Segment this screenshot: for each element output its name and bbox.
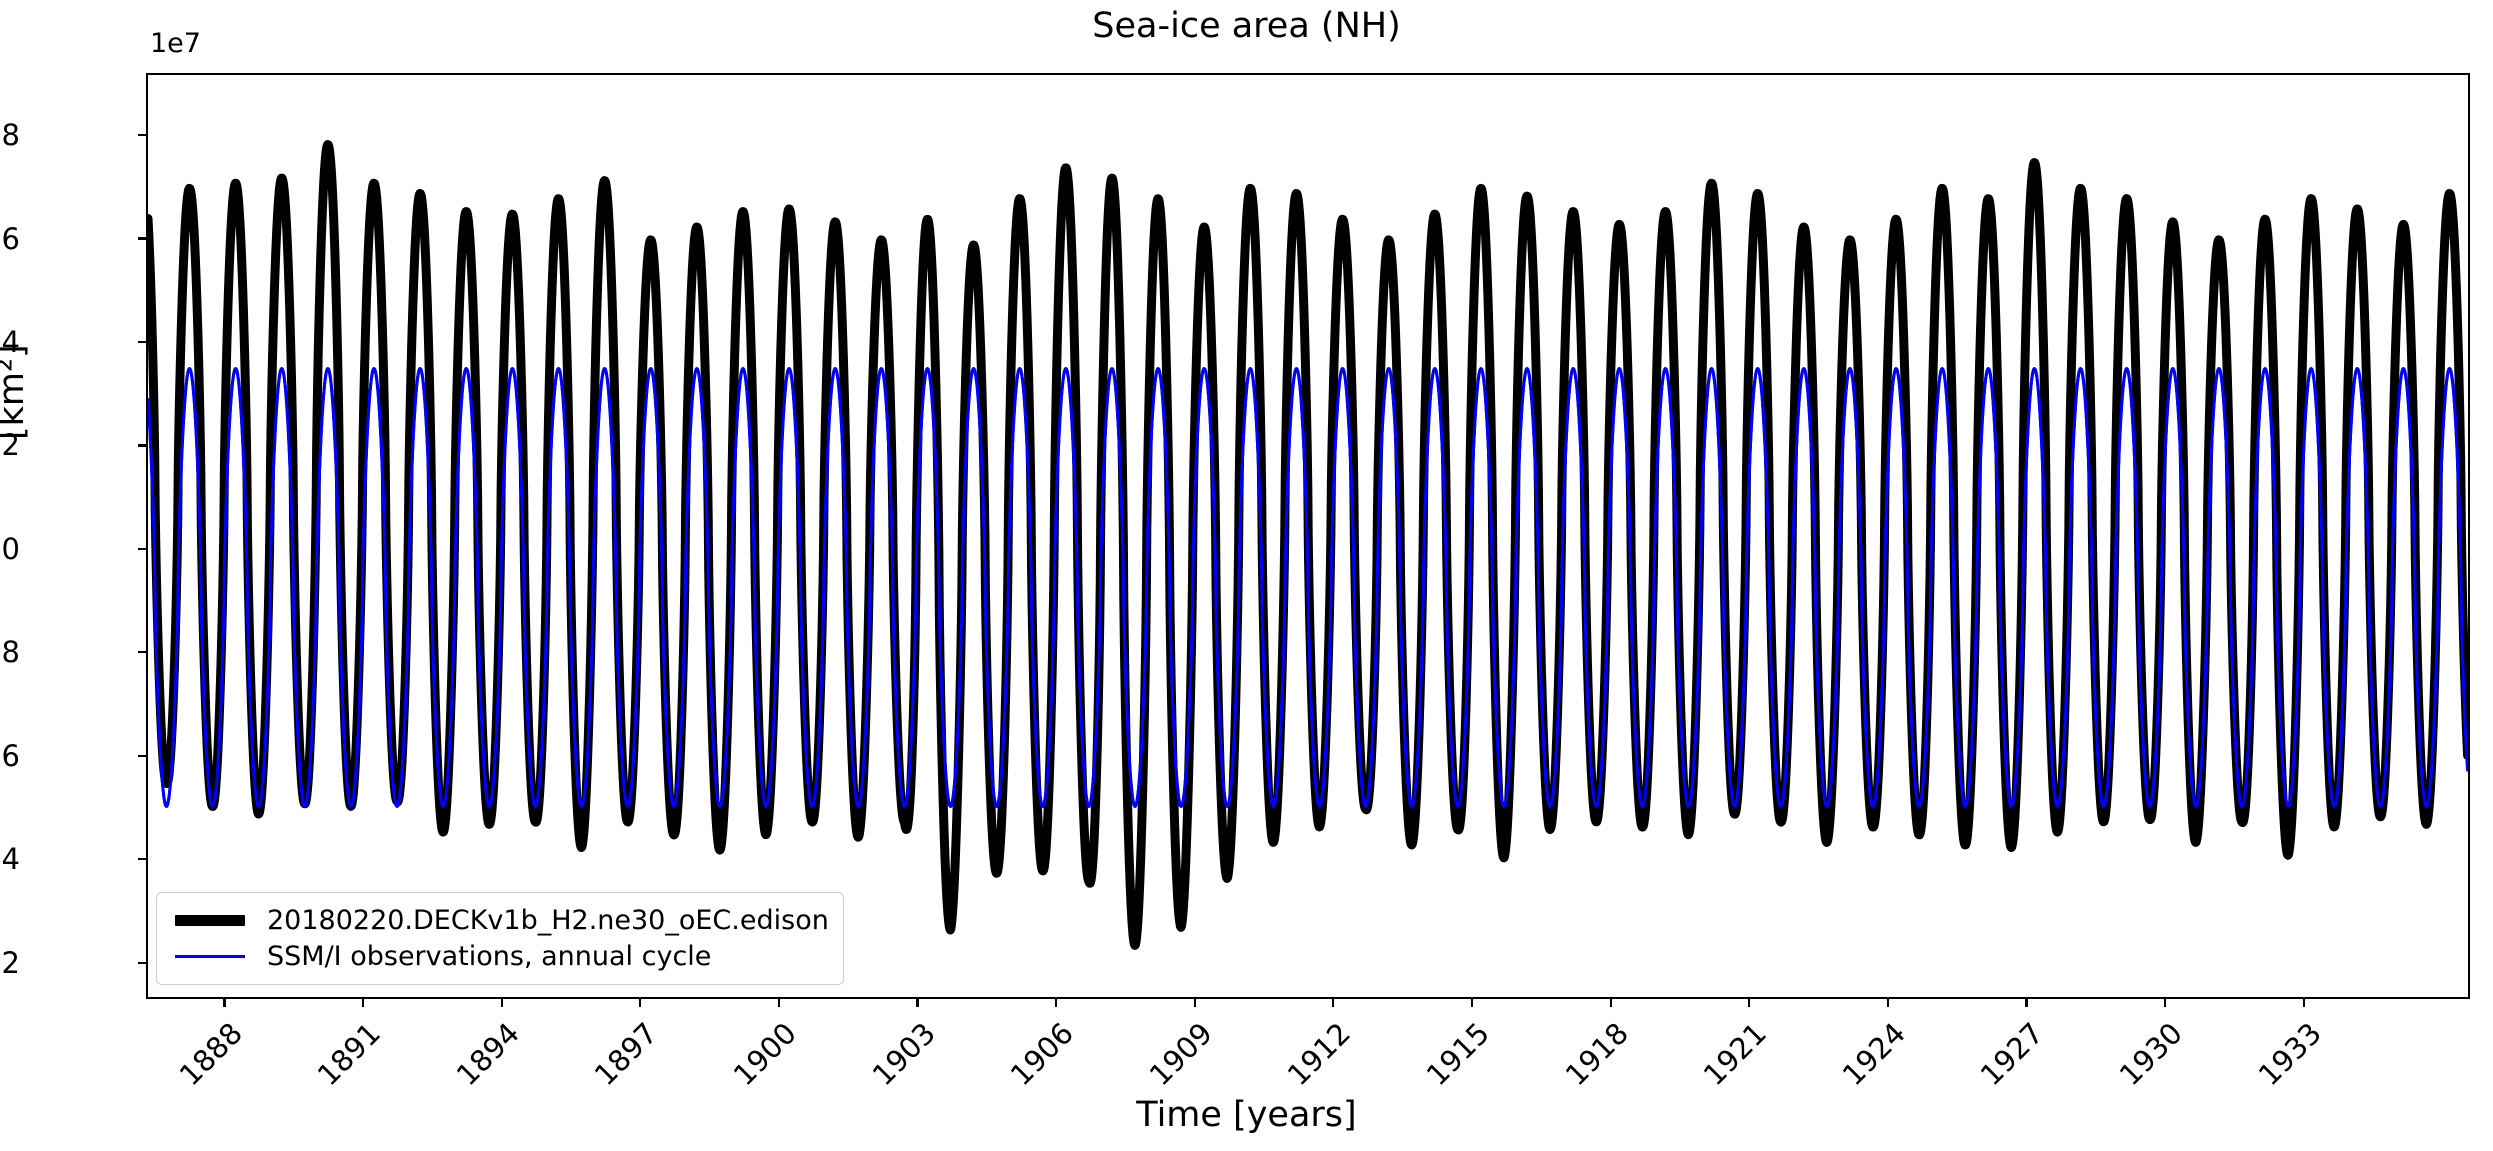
plot-area — [146, 73, 2470, 999]
x-axis-label: Time [years] — [0, 1095, 2493, 1135]
x-tick-label: 1927 — [1966, 1016, 2051, 1101]
x-tick-label: 1918 — [1550, 1016, 1635, 1101]
x-tick-mark — [639, 999, 641, 1007]
y-tick-mark — [138, 237, 146, 239]
x-tick-label: 1891 — [302, 1016, 387, 1101]
y-tick-mark — [138, 651, 146, 653]
x-tick-mark — [1194, 999, 1196, 1007]
y-tick-label: 1.2 — [0, 428, 20, 462]
y-tick-mark — [138, 341, 146, 343]
x-tick-mark — [1332, 999, 1334, 1007]
x-tick-label: 1906 — [995, 1016, 1080, 1101]
y-axis-offset-text: 1e7 — [150, 28, 201, 59]
y-tick-label: 0.4 — [0, 842, 20, 876]
x-tick-mark — [1610, 999, 1612, 1007]
x-tick-label: 1915 — [1411, 1016, 1496, 1101]
x-tick-mark — [1055, 999, 1057, 1007]
x-tick-label: 1894 — [441, 1016, 526, 1101]
legend-label-observations: SSM/I observations, annual cycle — [267, 941, 711, 972]
legend-item-observations[interactable]: SSM/I observations, annual cycle — [171, 938, 829, 974]
x-tick-mark — [1748, 999, 1750, 1007]
series-layer — [148, 75, 2468, 997]
y-tick-mark — [138, 755, 146, 757]
x-tick-mark — [778, 999, 780, 1007]
x-tick-label: 1924 — [1827, 1016, 1912, 1101]
legend-swatch-model-icon — [171, 915, 249, 926]
x-tick-label: 1921 — [1688, 1016, 1773, 1101]
x-tick-label: 1909 — [1134, 1016, 1219, 1101]
x-tick-mark — [2025, 999, 2027, 1007]
legend-label-model: 20180220.DECKv1b_H2.ne30_oEC.edison — [267, 905, 829, 936]
x-tick-mark — [1887, 999, 1889, 1007]
y-tick-mark — [138, 962, 146, 964]
x-tick-mark — [2303, 999, 2305, 1007]
y-tick-label: 0.8 — [0, 635, 20, 669]
x-tick-mark — [1471, 999, 1473, 1007]
y-tick-label: 1.0 — [0, 532, 20, 566]
legend-item-model[interactable]: 20180220.DECKv1b_H2.ne30_oEC.edison — [171, 902, 829, 938]
x-tick-mark — [916, 999, 918, 1007]
x-tick-mark — [362, 999, 364, 1007]
legend-swatch-observations-icon — [171, 955, 249, 958]
y-tick-label: 1.8 — [0, 118, 20, 152]
y-tick-label: 0.2 — [0, 946, 20, 980]
x-tick-label: 1900 — [718, 1016, 803, 1101]
x-tick-label: 1897 — [580, 1016, 665, 1101]
figure-canvas: Sea-ice area (NH) 1e7 [km²] Time [years]… — [0, 0, 2493, 1151]
x-tick-mark — [501, 999, 503, 1007]
x-tick-mark — [223, 999, 225, 1007]
y-tick-mark — [138, 548, 146, 550]
y-tick-label: 1.4 — [0, 325, 20, 359]
y-tick-label: 0.6 — [0, 739, 20, 773]
x-tick-label: 1933 — [2243, 1016, 2328, 1101]
y-tick-mark — [138, 858, 146, 860]
y-tick-label: 1.6 — [0, 222, 20, 256]
x-tick-label: 1912 — [1273, 1016, 1358, 1101]
legend[interactable]: 20180220.DECKv1b_H2.ne30_oEC.edison SSM/… — [156, 892, 844, 985]
y-tick-mark — [138, 134, 146, 136]
x-tick-mark — [2164, 999, 2166, 1007]
x-tick-label: 1903 — [857, 1016, 942, 1101]
chart-title: Sea-ice area (NH) — [0, 6, 2493, 46]
x-tick-label: 1888 — [164, 1016, 249, 1101]
y-tick-mark — [138, 444, 146, 446]
x-tick-label: 1930 — [2104, 1016, 2189, 1101]
